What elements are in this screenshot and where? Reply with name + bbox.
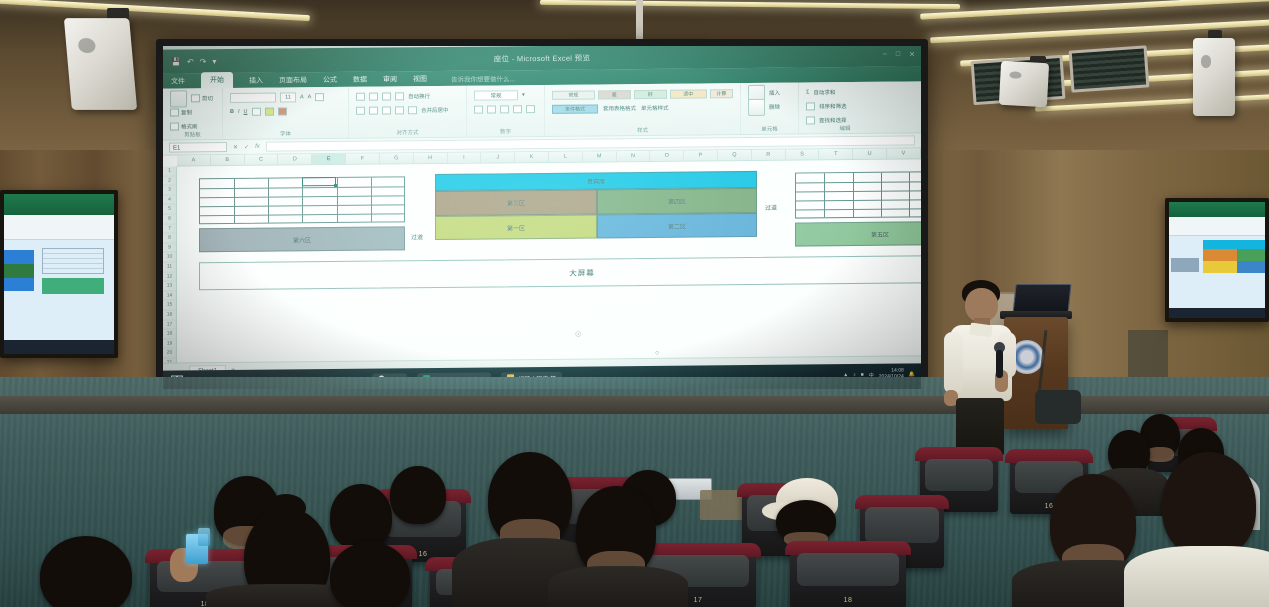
italic-icon[interactable]: I	[238, 109, 240, 115]
row-header[interactable]: 17	[163, 320, 176, 330]
column-header-J[interactable]: J	[481, 152, 515, 162]
minimize-icon[interactable]: –	[883, 51, 887, 59]
left-aisle-label: 过道	[411, 232, 423, 241]
group-label-editing: 编辑	[799, 124, 891, 133]
decrease-indent-icon[interactable]	[395, 106, 404, 114]
ribbon-group-editing: Σ 自动求和 排序和筛选 查找和选择 编辑	[799, 82, 891, 134]
percent-icon[interactable]	[487, 105, 496, 113]
window-controls[interactable]: – □ ✕	[883, 50, 915, 58]
bold-icon[interactable]: B	[230, 109, 234, 115]
monitor-titlebar	[1169, 202, 1265, 217]
cell-style-calc[interactable]: 计算	[710, 89, 733, 98]
delete-cells-icon[interactable]	[748, 98, 765, 115]
column-header-G[interactable]: G	[380, 153, 414, 163]
find-select-label: 查找和选择	[819, 116, 847, 124]
ribbon-group-number: 常规 ▾ 数字	[467, 85, 545, 137]
grid-line	[268, 179, 269, 223]
grid-line	[881, 173, 882, 217]
increase-decimal-icon[interactable]	[513, 105, 522, 113]
grid-line	[371, 178, 372, 222]
ribbon-group-cells: 插入 删除 单元格	[741, 83, 799, 135]
cell-style-neutral[interactable]: 适中	[670, 89, 707, 98]
row-header[interactable]: 18	[163, 330, 176, 340]
hair-bun	[266, 494, 306, 522]
worksheet-area[interactable]: A B C D E F G H I J K L M N O	[163, 148, 921, 362]
audience-head	[330, 484, 392, 550]
decrease-decimal-icon[interactable]	[526, 105, 535, 113]
formula-buttons[interactable]: ✕ ✓ fx	[233, 143, 260, 150]
align-left-icon[interactable]	[356, 107, 365, 115]
ribbon-group-font: 11 A A B I U 字体	[223, 87, 349, 139]
orientation-icon[interactable]	[395, 92, 404, 100]
sort-filter-label: 排序和筛选	[819, 102, 847, 110]
column-header-D[interactable]: D	[278, 154, 312, 164]
grid-line	[853, 173, 854, 217]
currency-icon[interactable]	[474, 106, 483, 114]
column-header-N[interactable]: N	[617, 151, 651, 161]
audience-head	[488, 452, 572, 548]
wall-monitor-left	[0, 190, 118, 358]
column-header-B[interactable]: B	[211, 155, 245, 165]
ribbon[interactable]: 剪切 复制 格式刷 剪贴板 11	[163, 81, 921, 140]
lecture-hall-photo: 💾 ↶ ↷ ▾ 座位 - Microsoft Excel 预览 – □ ✕ 文件	[0, 0, 1269, 607]
mini-block-blue	[1237, 261, 1269, 273]
row-header[interactable]: 10	[163, 253, 176, 263]
phone-screen[interactable]	[198, 528, 210, 546]
name-box[interactable]: E1	[169, 142, 227, 153]
copy-icon	[170, 108, 179, 116]
seat-pad	[865, 507, 939, 543]
cell-style-bad[interactable]: 差	[598, 90, 631, 99]
row-header[interactable]: 20	[163, 349, 176, 359]
number-format-chevron-icon[interactable]: ▾	[522, 92, 525, 98]
equipment-bag	[1035, 390, 1081, 424]
save-icon[interactable]: 💾	[171, 57, 181, 66]
conditional-format-button[interactable]: 条件格式	[552, 104, 598, 113]
mini-block-cyan	[1203, 240, 1269, 249]
seat: 18	[790, 544, 906, 607]
fill-color-icon[interactable]	[265, 108, 274, 116]
increase-indent-icon[interactable]	[408, 106, 417, 114]
grid-line	[234, 179, 235, 223]
cell-styles-button[interactable]: 单元格样式	[641, 104, 669, 112]
column-header-M[interactable]: M	[583, 151, 617, 161]
column-header-R[interactable]: R	[752, 150, 786, 160]
cut-item[interactable]: 剪切	[191, 94, 213, 102]
column-header-E[interactable]: E	[312, 154, 346, 164]
column-header-V[interactable]: V	[887, 148, 921, 158]
quick-access-toolbar[interactable]: 💾 ↶ ↷ ▾	[163, 57, 216, 67]
tab-insert[interactable]: 插入	[249, 75, 263, 85]
row-header[interactable]: 15	[163, 301, 176, 311]
column-header-F[interactable]: F	[346, 154, 380, 164]
group-label-font: 字体	[223, 129, 348, 138]
autosum-label: 自动求和	[813, 88, 835, 96]
block-zone-6[interactable]: 第六区	[199, 226, 405, 252]
undo-icon[interactable]: ↶	[187, 57, 194, 66]
column-header-I[interactable]: I	[448, 153, 482, 163]
row-header[interactable]: 14	[163, 291, 176, 301]
row-header[interactable]: 8	[163, 234, 176, 244]
mini-block-green	[1237, 249, 1269, 261]
number-format-select[interactable]: 常规	[474, 90, 518, 100]
audience-head	[390, 466, 446, 524]
align-right-icon[interactable]	[382, 106, 391, 114]
projection-screen: 💾 ↶ ↷ ▾ 座位 - Microsoft Excel 预览 – □ ✕ 文件	[156, 39, 928, 396]
align-bottom-icon[interactable]	[382, 92, 391, 100]
block-zone-3[interactable]: 第三区	[435, 189, 597, 216]
close-icon[interactable]: ✕	[909, 50, 915, 58]
monitor-taskbar	[1169, 308, 1265, 318]
border-style-icon[interactable]	[252, 108, 261, 116]
presenter-head	[965, 288, 998, 322]
audience-head	[576, 486, 656, 578]
tab-home[interactable]: 开始	[201, 72, 233, 89]
row-header[interactable]: 6	[163, 214, 176, 224]
group-label-alignment: 对齐方式	[349, 128, 466, 137]
mini-block-teal	[42, 278, 104, 294]
projector-mount-pole	[636, 0, 643, 44]
wall-speaker-right-near	[999, 61, 1049, 107]
monitor-ribbon	[1169, 217, 1265, 236]
brush-icon	[170, 122, 179, 130]
align-middle-icon[interactable]	[369, 93, 378, 101]
block-zone-1[interactable]: 第一区	[435, 214, 597, 240]
row-header[interactable]: 13	[163, 282, 176, 292]
grid-line	[796, 208, 921, 211]
column-header-C[interactable]: C	[245, 155, 279, 165]
borders-icon[interactable]	[315, 93, 324, 101]
monitor-taskbar	[4, 340, 114, 354]
grid-line	[796, 199, 921, 202]
right-seating-grid	[795, 171, 921, 219]
block-zone-5[interactable]: 第五区	[795, 221, 921, 247]
column-header-O[interactable]: O	[650, 151, 684, 161]
excel-window: 💾 ↶ ↷ ▾ 座位 - Microsoft Excel 预览 – □ ✕ 文件	[163, 46, 921, 389]
mini-block-yellow	[1203, 261, 1237, 273]
tab-data[interactable]: 数据	[353, 74, 367, 84]
monitor-sheet	[4, 240, 114, 339]
row-header[interactable]: 19	[163, 339, 176, 349]
font-name-box[interactable]	[230, 93, 276, 103]
stage-big-screen-cell[interactable]: 大屏幕	[199, 255, 921, 290]
autosum-icon[interactable]: Σ	[806, 89, 809, 95]
mini-block-blue2	[0, 278, 34, 291]
row-header[interactable]: 2	[163, 176, 176, 186]
row-headers[interactable]: 1 2 3 4 5 6 7 8 9 10 11 12 13 14	[163, 167, 177, 363]
presenter	[940, 280, 1030, 455]
sheet-marker-icon: ☉	[575, 331, 581, 339]
row-header[interactable]: 9	[163, 243, 176, 253]
sort-filter-icon[interactable]	[806, 102, 815, 110]
wall-speaker-left	[64, 18, 137, 110]
seat-pad	[925, 459, 994, 491]
group-label-styles: 样式	[545, 125, 740, 135]
tab-view[interactable]: 视图	[413, 74, 427, 84]
wrap-text-item[interactable]: 自动换行	[408, 92, 430, 100]
block-zone-4[interactable]: 第四区	[597, 188, 757, 215]
row-header[interactable]: 16	[163, 310, 176, 320]
selected-cell-E1[interactable]	[302, 177, 336, 186]
tab-formulas[interactable]: 公式	[323, 74, 337, 84]
grid-line	[824, 173, 825, 217]
ribbon-group-styles: 常规 差 好 适中 计算 条件格式 套用表格格式 单元格样式 样式	[545, 83, 741, 136]
seat-pad	[797, 553, 899, 586]
column-header-P[interactable]: P	[684, 150, 718, 160]
row-header[interactable]: 1	[163, 167, 176, 177]
underline-icon[interactable]: U	[244, 109, 248, 115]
insert-label: 插入	[769, 89, 780, 97]
tab-review[interactable]: 审阅	[383, 74, 397, 84]
function-icon[interactable]: fx	[255, 143, 260, 150]
cancel-icon[interactable]: ✕	[233, 143, 238, 150]
wall-monitor-right	[1165, 198, 1269, 322]
mini-grid	[42, 248, 104, 274]
align-top-icon[interactable]	[356, 93, 365, 101]
scissors-icon	[191, 94, 200, 102]
grid-line	[337, 178, 338, 222]
confirm-icon[interactable]: ✓	[244, 143, 249, 150]
group-label-number: 数字	[467, 127, 544, 136]
column-header-S[interactable]: S	[786, 149, 820, 159]
mini-block-blue	[0, 250, 34, 264]
delete-label: 删除	[769, 103, 780, 111]
ribbon-group-alignment: 自动换行 合并后居中 对齐方式	[349, 86, 467, 138]
presenter-left-arm	[944, 332, 963, 394]
align-center-icon[interactable]	[369, 107, 378, 115]
row-header[interactable]: 4	[163, 195, 176, 205]
seating-plan-canvas[interactable]: 第六区 过道 贵宾席 第三区 第四区	[177, 159, 921, 362]
audience-head	[776, 500, 836, 542]
merge-center-item[interactable]: 合并后居中	[421, 106, 449, 114]
sheet-marker-icon: ○	[655, 350, 659, 357]
redo-icon[interactable]: ↷	[200, 57, 207, 66]
audience-head	[40, 536, 132, 607]
window-title: 座位 - Microsoft Excel 预览	[494, 52, 591, 64]
mini-block-gray	[1171, 258, 1199, 272]
cell-style-good[interactable]: 好	[634, 89, 667, 98]
find-select-icon[interactable]	[806, 116, 815, 124]
right-aisle-label: 过道	[765, 203, 777, 212]
restore-icon[interactable]: □	[896, 51, 900, 59]
monitor-ribbon	[4, 215, 114, 241]
row-header[interactable]: 3	[163, 186, 176, 196]
column-header-A[interactable]: A	[177, 155, 211, 165]
format-painter-item[interactable]: 格式刷	[170, 122, 198, 130]
customize-icon[interactable]: ▾	[212, 57, 216, 66]
audience-shoulders	[548, 566, 688, 607]
cell-style-normal[interactable]: 常规	[552, 90, 595, 99]
ceiling-vent	[1069, 45, 1150, 92]
block-zone-2[interactable]: 第二区	[597, 213, 757, 239]
column-header-L[interactable]: L	[549, 152, 583, 162]
audience-shoulders	[1124, 546, 1269, 607]
projected-image: 💾 ↶ ↷ ▾ 座位 - Microsoft Excel 预览 – □ ✕ 文件	[163, 46, 921, 389]
handheld-microphone[interactable]	[996, 350, 1003, 378]
column-header-U[interactable]: U	[853, 149, 887, 159]
monitor-screen-left	[4, 194, 114, 354]
monitor-sheet	[1169, 236, 1265, 308]
audience-head	[1050, 474, 1136, 574]
row-header[interactable]: 5	[163, 205, 176, 215]
grid-line	[796, 181, 921, 184]
copy-item[interactable]: 复制	[170, 108, 192, 116]
tab-page-layout[interactable]: 页面布局	[279, 75, 307, 85]
tell-me-box[interactable]: 告诉我你想要做什么...	[451, 73, 515, 84]
wall-speaker-right-far	[1193, 38, 1235, 116]
monitor-screen-right	[1169, 202, 1265, 318]
font-size-box[interactable]: 11	[280, 92, 296, 102]
group-label-clipboard: 剪贴板	[163, 130, 222, 139]
comma-icon[interactable]	[500, 105, 509, 113]
row-header[interactable]: 12	[163, 272, 176, 282]
column-header-T[interactable]: T	[819, 149, 853, 159]
tab-file[interactable]: 文件	[171, 76, 185, 86]
mini-block-orange	[1203, 249, 1237, 261]
row-header[interactable]: 7	[163, 224, 176, 234]
column-header-Q[interactable]: Q	[718, 150, 752, 160]
seat-number: 18	[790, 597, 906, 604]
audience-head	[330, 542, 410, 607]
column-header-H[interactable]: H	[414, 153, 448, 163]
audience-head	[1162, 452, 1256, 558]
grid-line	[909, 172, 910, 216]
mini-block-green	[0, 264, 34, 278]
shrink-font-icon[interactable]: A	[308, 94, 312, 100]
group-label-cells: 单元格	[741, 125, 798, 134]
monitor-titlebar	[4, 194, 114, 215]
column-header-K[interactable]: K	[515, 152, 549, 162]
grow-font-icon[interactable]: A	[300, 94, 304, 100]
font-color-icon[interactable]	[278, 107, 287, 115]
row-header[interactable]: 11	[163, 262, 176, 272]
ribbon-group-clipboard: 剪切 复制 格式刷 剪贴板	[163, 88, 223, 140]
grid-line	[796, 190, 921, 193]
format-as-table-button[interactable]: 套用表格格式	[603, 104, 636, 112]
